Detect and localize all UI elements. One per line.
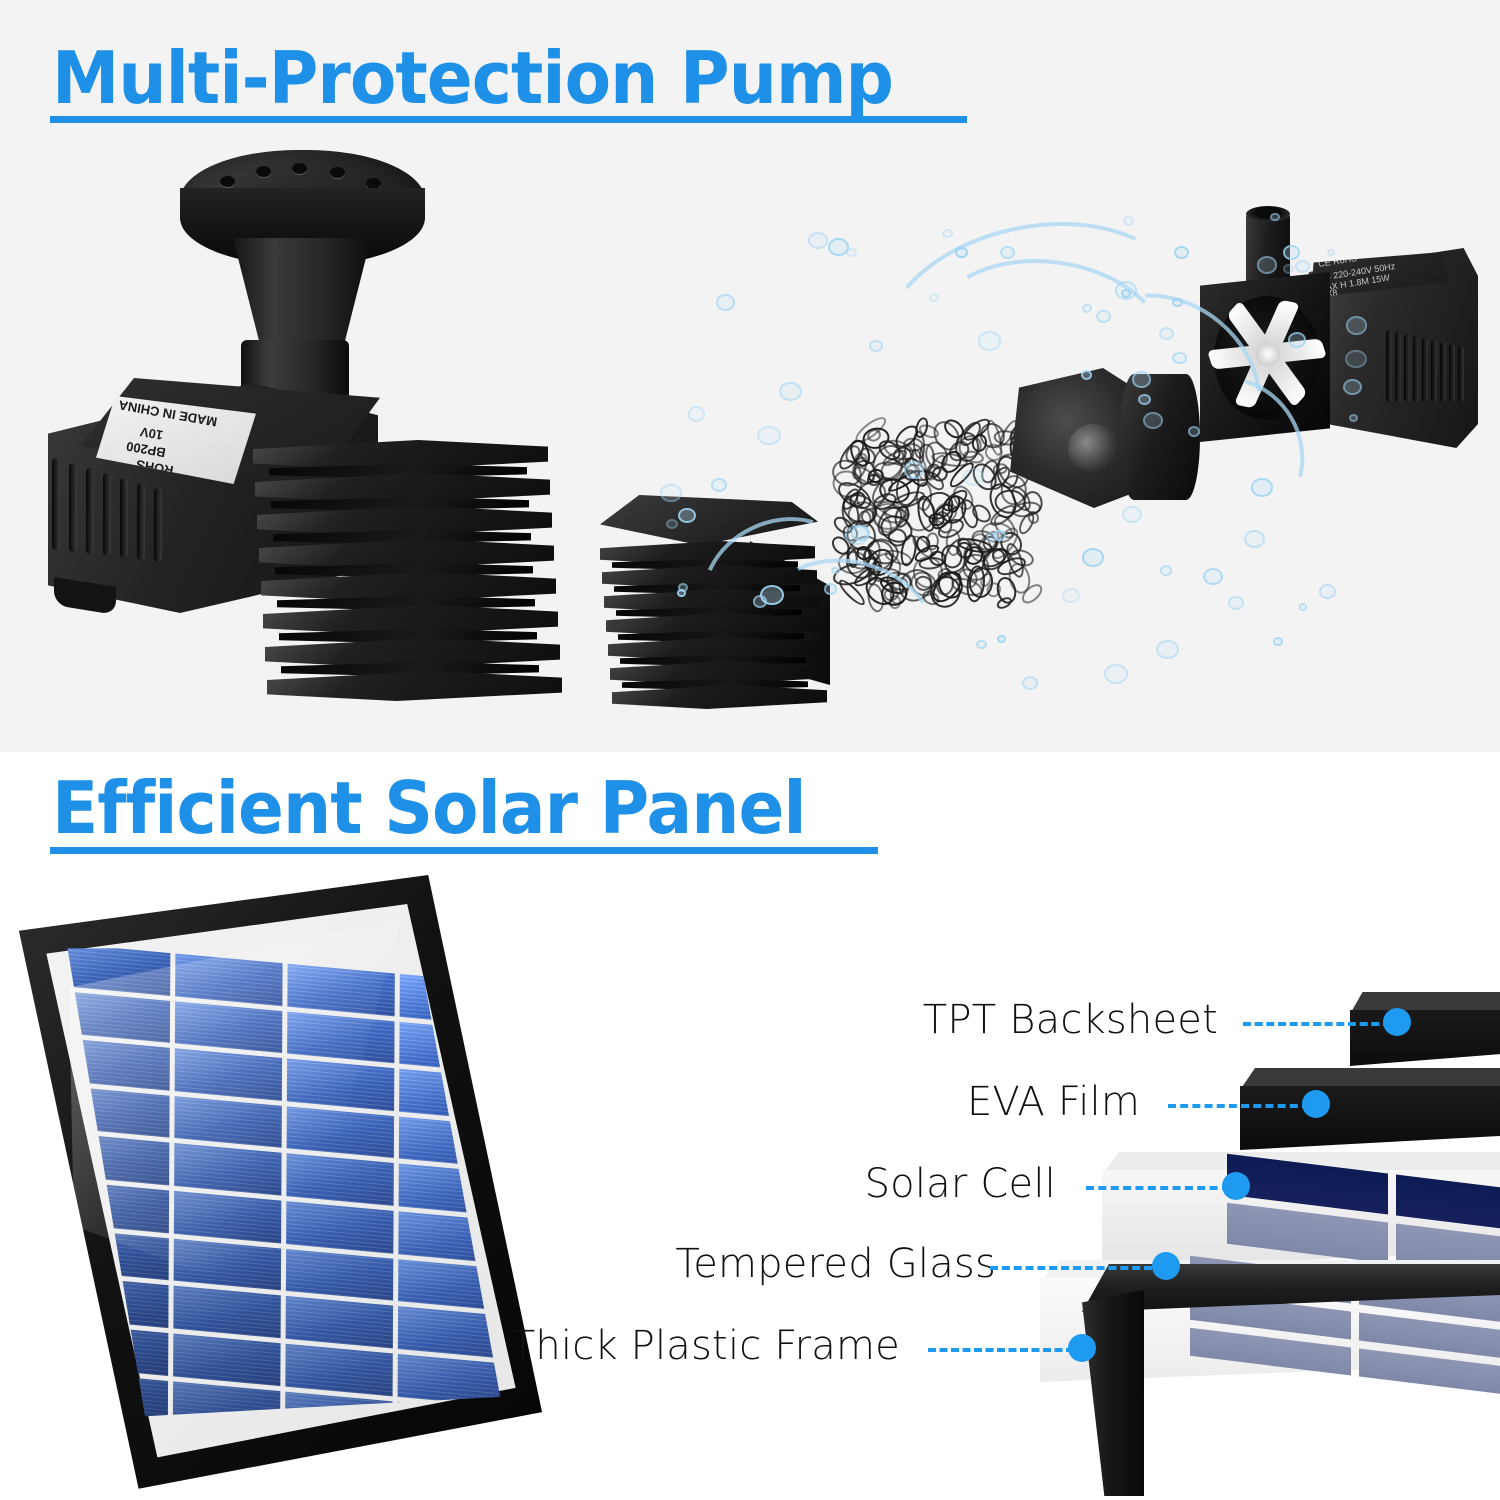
motor-vent-slot [1395,332,1401,402]
water-droplet [846,248,857,258]
pump-body-rib [103,473,111,556]
water-droplet [1115,281,1138,300]
filter-fin [267,671,562,701]
page-title-solar: Efficient Solar Panel [52,772,806,844]
water-droplet [1123,216,1134,226]
water-droplet [1082,304,1092,313]
pump-body-rib [154,488,162,562]
motor-vent-slot [1431,340,1437,402]
motor-vent-slot [1386,330,1392,402]
assembled-pump: MADE IN CHINA 10V BP200 ROHS [38,140,568,740]
water-droplet [1244,530,1265,548]
water-droplet [1228,596,1243,609]
water-droplet [1159,327,1174,340]
callout-dot [1383,1008,1411,1036]
fountain-hole [330,167,345,178]
water-droplet [1096,310,1111,323]
fountain-hole [256,166,271,177]
motor-label-line-1: CE RoHS [1317,253,1357,269]
callout-label-eva-film: EVA Film [0,1082,1140,1122]
callout-label-tpt-backsheet: TPT Backsheet [0,1000,1218,1040]
callout-line [990,1266,1152,1270]
water-droplet [1122,506,1142,523]
water-droplet [1172,352,1187,365]
motor-outlet-opening [1246,206,1290,222]
impeller-hub [1256,342,1280,366]
water-droplet [688,406,706,421]
water-droplet [711,478,727,492]
callout-line [1168,1104,1310,1108]
motor-vent-slot [1404,334,1410,402]
water-droplet [1104,664,1128,684]
fountain-hole [220,176,235,187]
fountain-hole [292,163,307,174]
solar-cell [61,1370,168,1422]
motor-side-vents [1386,330,1472,430]
water-droplet [978,331,1001,351]
tpt-front-face [1350,1010,1500,1066]
water-droplet [808,232,828,249]
motor-vent-slot [1440,342,1446,402]
filter-mesh-strand [983,536,998,551]
motor-vent-slot [1458,346,1464,402]
water-droplet [1160,565,1173,576]
frame-left-bar [1082,1290,1144,1496]
exploded-filter-housing [600,495,850,710]
water-droplet [1121,289,1131,298]
layer-plastic-frame [1060,1256,1500,1496]
pump-body-rib [86,468,94,554]
pump-body-rib [52,458,60,550]
water-droplet [1174,246,1189,259]
impeller-cover-barrel [1120,374,1200,500]
water-droplet [1172,298,1182,307]
filter-housing-fin [612,685,827,709]
motor-vent-slot [1413,336,1419,402]
pump-motor-unit: CE RoHS AC 220-240V 50Hz MAX H 1.8M 15W … [1190,210,1490,510]
water-droplet [942,229,953,239]
water-droplet [1273,637,1283,646]
callout-label-tempered-glass: Tempered Glass [0,1244,996,1284]
layer-tpt-backsheet [1350,992,1500,1064]
water-droplet [929,293,939,302]
pump-section: Multi-Protection Pump MADE IN CHINA 10V … [0,0,1500,752]
frame-top-bar [1082,1264,1500,1312]
water-droplet [1203,568,1223,585]
title-underline-pump [50,116,967,123]
callout-dot [1152,1252,1180,1280]
water-droplet [757,426,780,446]
water-droplet [1022,676,1038,690]
motor-vent-slot [1422,338,1428,402]
water-droplet [828,238,849,256]
page-title-pump: Multi-Protection Pump [52,42,893,114]
motor-vent-slot [1449,344,1455,402]
pump-label-line-2: 10V [139,424,164,443]
pump-body-ribs [52,458,172,598]
callout-dot [1302,1090,1330,1118]
water-droplet [779,382,802,402]
filter-mesh-strand [915,482,932,511]
callout-line [1243,1022,1391,1026]
title-underline-solar [50,847,878,854]
water-droplet [1082,548,1104,567]
water-droplet [1062,588,1080,603]
water-droplet [716,294,735,310]
pump-body-rib [120,478,128,558]
pump-body-rib [69,463,77,552]
solar-cell [63,943,170,995]
water-droplet [976,640,987,649]
callout-label-thick-plastic-frame: Thick Plastic Frame [0,1326,900,1366]
callout-label-solar-cell: Solar Cell [0,1164,1056,1204]
product-infographic: Multi-Protection Pump MADE IN CHINA 10V … [0,0,1500,1500]
callout-dot [1068,1334,1096,1362]
water-droplet [869,340,882,352]
water-droplet [955,247,967,258]
callout-dot [1222,1172,1250,1200]
callout-line [928,1348,1074,1352]
impeller-cover-cap [1010,368,1200,508]
filter-fin-stack [253,440,553,740]
pump-body-rib [137,483,145,560]
layer-eva-film [1240,1068,1500,1150]
eva-front-face [1240,1086,1500,1150]
solar-cell [175,953,282,1005]
water-droplet [1000,246,1015,259]
callout-line [1086,1186,1230,1190]
water-droplet [1156,640,1179,660]
water-droplet [1299,603,1308,611]
water-droplet [1319,584,1336,599]
water-droplet [997,635,1006,643]
